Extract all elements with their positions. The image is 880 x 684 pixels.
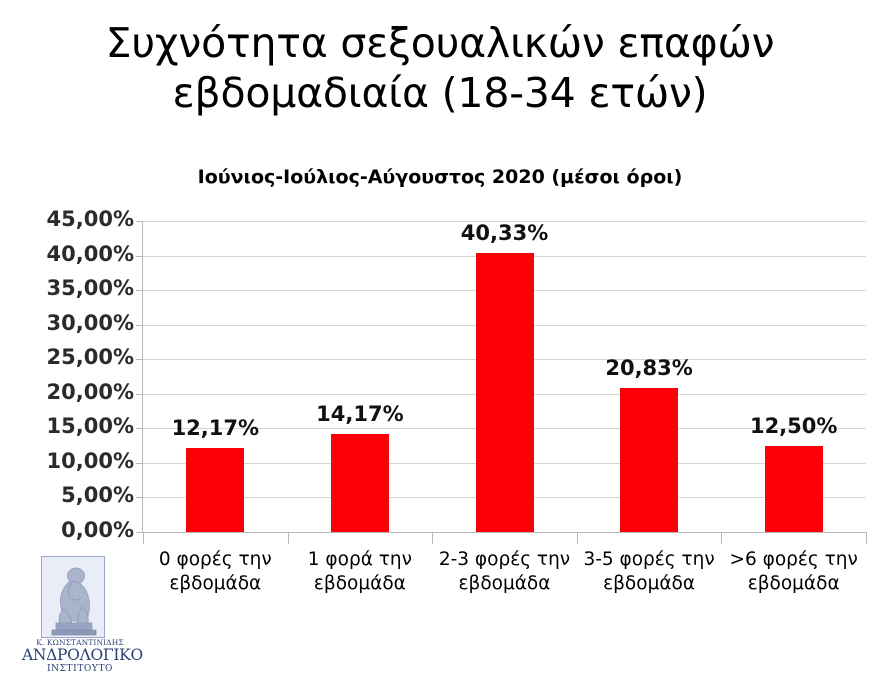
y-axis-tick-label: 5,00% (0, 483, 134, 507)
x-axis-line (143, 532, 867, 533)
y-axis-tick-label: 20,00% (0, 380, 134, 404)
x-axis-category-label: >6 φορές τηνεβδομάδα (724, 548, 863, 597)
bar-value-label: 20,83% (569, 356, 729, 380)
x-axis-category-tick (866, 533, 867, 544)
x-axis-category-label-line: εβδομάδα (724, 572, 863, 596)
y-axis-tick-label: 15,00% (0, 414, 134, 438)
bar[interactable] (765, 446, 823, 532)
y-axis-tick-label: 10,00% (0, 449, 134, 473)
x-axis-category-label: 1 φορά τηνεβδομάδα (291, 548, 430, 597)
y-axis-tick-label: 0,00% (0, 518, 134, 542)
logo-line-2: ΑΝΔΡΟΛΟΓΙΚΟ (22, 647, 138, 664)
x-axis-category-label-line: εβδομάδα (146, 572, 285, 596)
logo-line-3: ΙΝΣΤΙΤΟΥΤΟ (22, 664, 138, 675)
x-axis-category-label-line: εβδομάδα (291, 572, 430, 596)
bar[interactable] (476, 253, 534, 532)
y-axis-tick-label: 45,00% (0, 207, 134, 231)
bar-value-label: 40,33% (425, 221, 585, 245)
x-axis-category-label-line: εβδομάδα (580, 572, 719, 596)
logo-text: Κ. ΚΩΝΣΤΑΝΤΙΝΙΔΗΣ ΑΝΔΡΟΛΟΓΙΚΟ ΙΝΣΤΙΤΟΥΤΟ (22, 638, 138, 675)
institute-logo: Κ. ΚΩΝΣΤΑΝΤΙΝΙΔΗΣ ΑΝΔΡΟΛΟΓΙΚΟ ΙΝΣΤΙΤΟΥΤΟ (22, 556, 138, 680)
plot-area (143, 221, 866, 532)
x-axis-category-label-line: 3-5 φορές την (580, 548, 719, 572)
y-axis-tick-label: 25,00% (0, 345, 134, 369)
bar-value-label: 12,50% (714, 414, 874, 438)
x-axis-category-label-line: 0 φορές την (146, 548, 285, 572)
y-axis-tick-label: 40,00% (0, 242, 134, 266)
x-axis-category-tick (143, 533, 144, 544)
y-axis-tick-label: 30,00% (0, 311, 134, 335)
x-axis-category-label-line: 1 φορά την (291, 548, 430, 572)
y-axis-tick-label: 35,00% (0, 276, 134, 300)
x-axis-category-label: 2-3 φορές τηνεβδομάδα (435, 548, 574, 597)
x-axis-category-label: 3-5 φορές τηνεβδομάδα (580, 548, 719, 597)
x-axis-category-tick (432, 533, 433, 544)
x-axis-category-tick (577, 533, 578, 544)
x-axis-category-tick (288, 533, 289, 544)
bar-value-label: 14,17% (280, 402, 440, 426)
x-axis-category-label-line: 2-3 φορές την (435, 548, 574, 572)
x-axis-category-label: 0 φορές τηνεβδομάδα (146, 548, 285, 597)
bar[interactable] (620, 388, 678, 532)
bar[interactable] (331, 434, 389, 532)
bar-value-label: 12,17% (135, 416, 295, 440)
thinker-statue-icon (41, 556, 105, 638)
x-axis-category-label-line: εβδομάδα (435, 572, 574, 596)
y-axis-line (142, 221, 143, 533)
bar[interactable] (186, 448, 244, 532)
x-axis-category-tick (721, 533, 722, 544)
x-axis-category-label-line: >6 φορές την (724, 548, 863, 572)
